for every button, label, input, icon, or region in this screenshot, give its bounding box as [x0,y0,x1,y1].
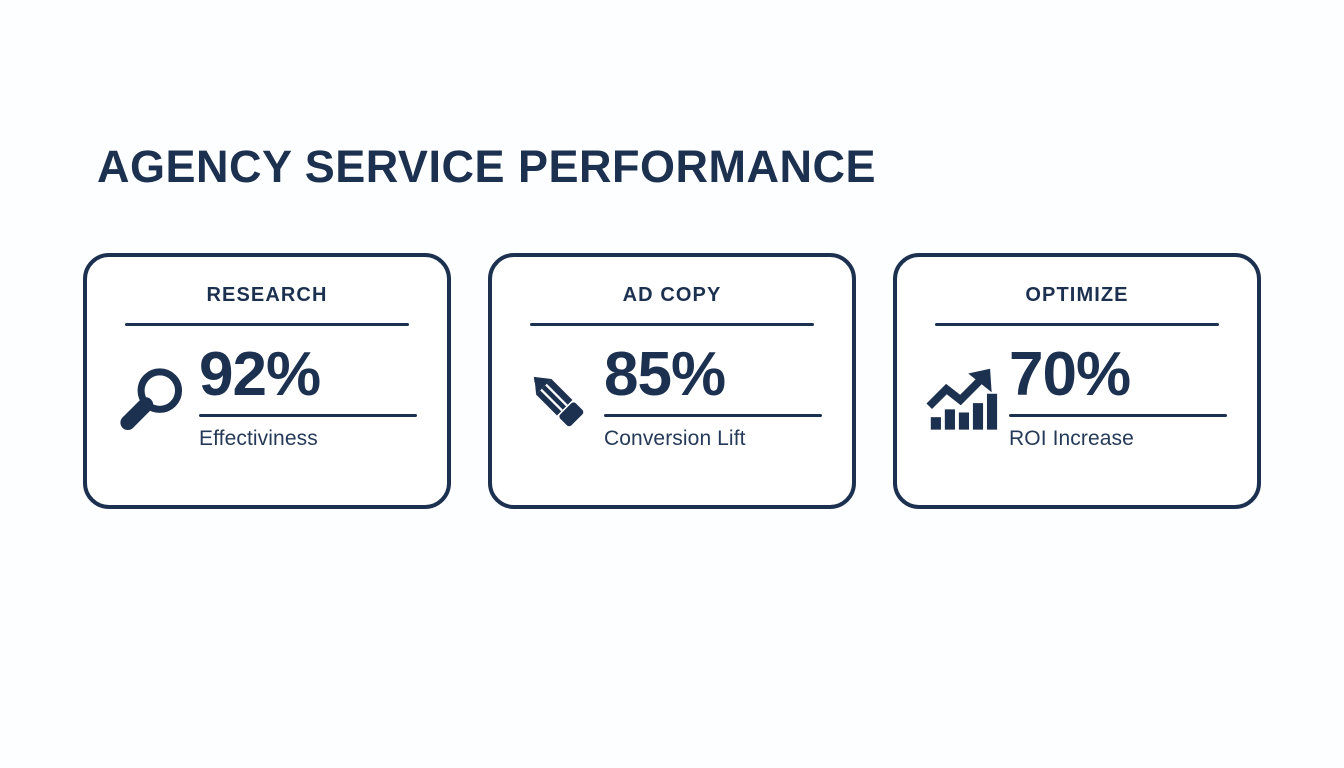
card-header-label: RESEARCH [87,285,447,305]
card-header-divider [935,323,1219,326]
infographic-slide: AGENCY SERVICE PERFORMANCE RESEARCH 92% … [0,0,1344,768]
pencil-icon [514,357,600,443]
magnifier-icon [109,357,195,443]
card-header-divider [125,323,409,326]
card-header-label: OPTIMIZE [897,285,1257,305]
metric-label: ROI Increase [1009,426,1134,451]
metric-divider [604,414,822,417]
metric-value: 70% [1009,345,1130,406]
card-header-divider [530,323,814,326]
metric-block: 70% ROI Increase [1009,349,1227,451]
growth-chart-icon [919,357,1005,443]
card-body: 70% ROI Increase [919,349,1227,487]
page-title: AGENCY SERVICE PERFORMANCE [97,144,876,189]
metric-label: Conversion Lift [604,426,746,451]
card-body: 92% Effectiviness [109,349,417,487]
metric-block: 85% Conversion Lift [604,349,822,451]
card-body: 85% Conversion Lift [514,349,822,487]
metric-value: 85% [604,345,725,406]
metric-block: 92% Effectiviness [199,349,417,451]
stat-card-research[interactable]: RESEARCH 92% Effectiviness [83,253,451,509]
metric-label: Effectiviness [199,426,318,451]
stat-card-optimize[interactable]: OPTIMIZE [893,253,1261,509]
metric-divider [199,414,417,417]
card-header-label: AD COPY [492,285,852,305]
metric-value: 92% [199,345,320,406]
stat-card-row: RESEARCH 92% Effectiviness AD COPY [83,253,1261,509]
stat-card-ad-copy[interactable]: AD COPY [488,253,856,509]
metric-divider [1009,414,1227,417]
